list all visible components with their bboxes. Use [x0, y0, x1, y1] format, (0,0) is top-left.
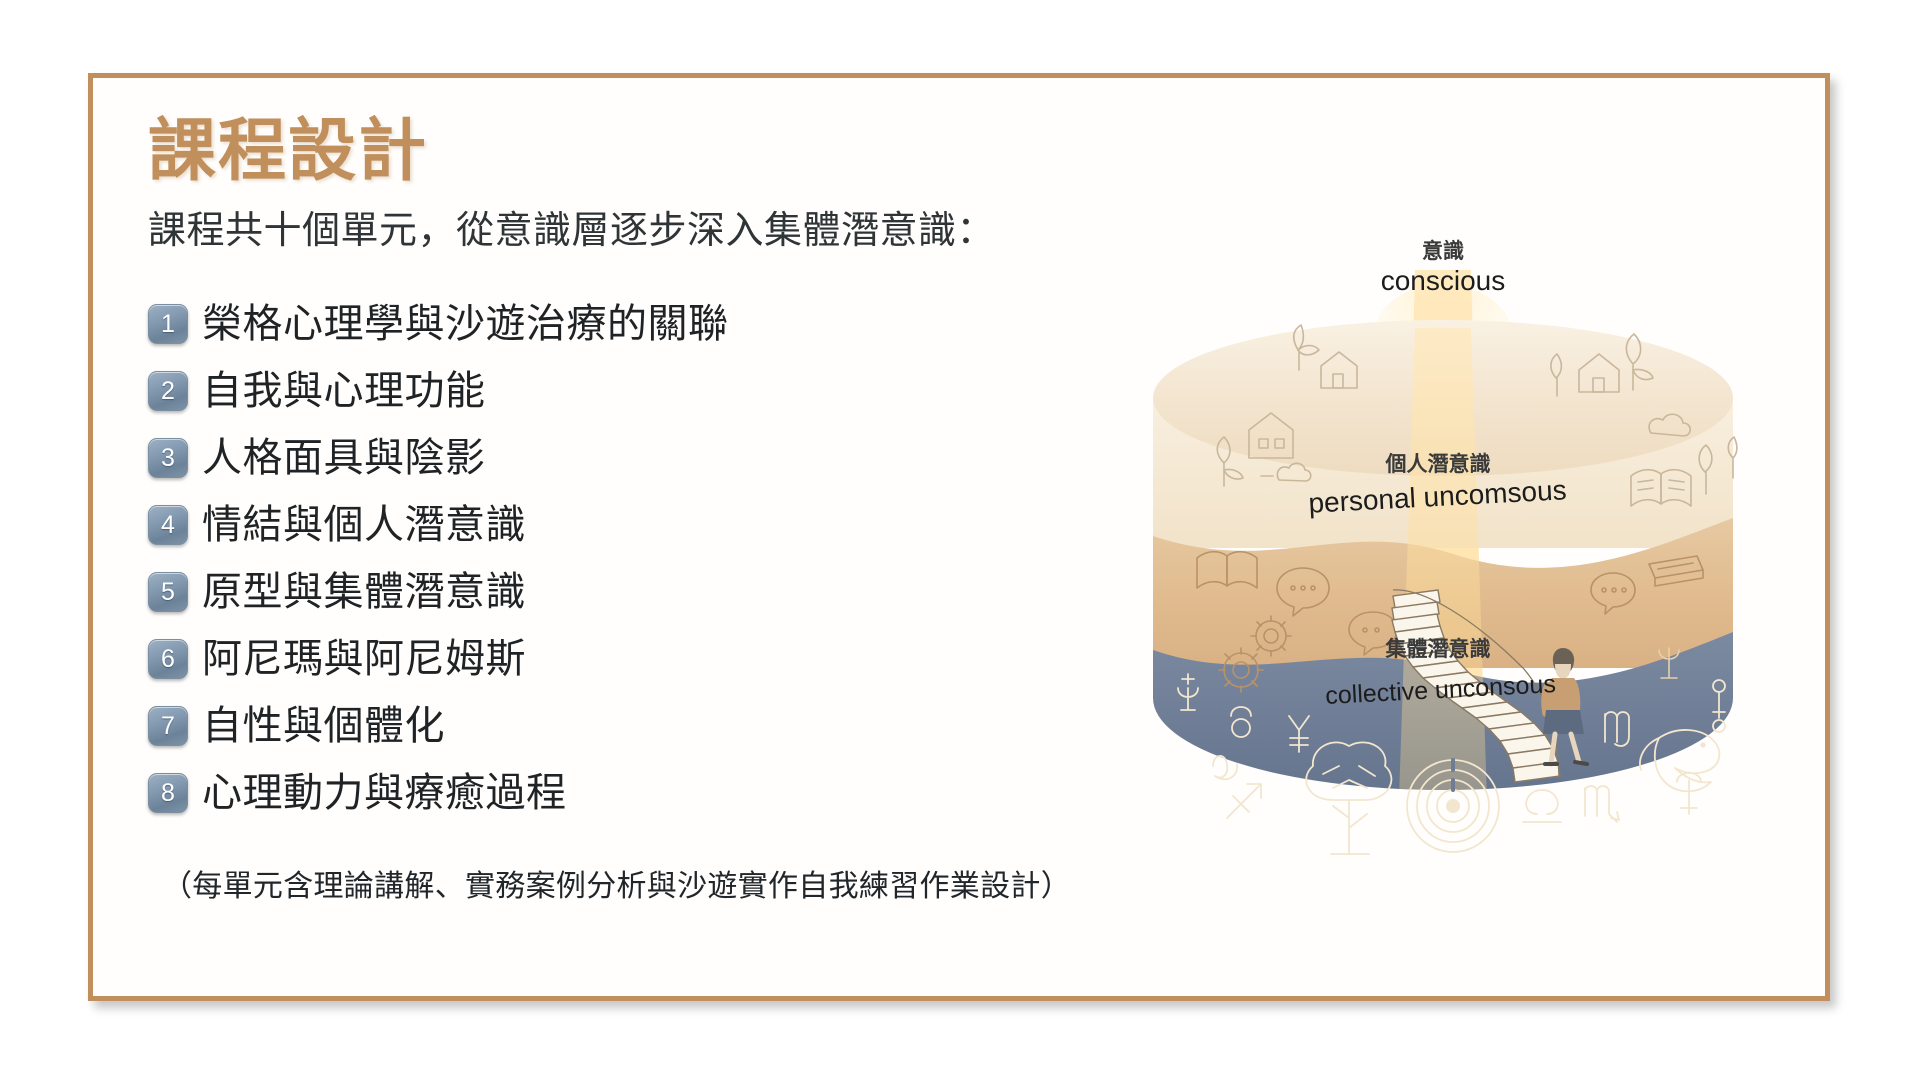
list-item[interactable]: 3 人格面具與陰影	[148, 425, 1148, 492]
subtitle-text: 課程共十個單元，從意識層逐步深入集體潛意識：	[148, 209, 1148, 255]
unit-label: 原型與集體潛意識	[202, 572, 526, 612]
list-item[interactable]: 1 榮格心理學與沙遊治療的關聯	[148, 291, 1148, 358]
zodiac-symbol-icon	[1227, 784, 1261, 818]
unit-label: 自我與心理功能	[202, 371, 486, 411]
unit-number-badge: 6	[148, 639, 188, 679]
unit-label: 阿尼瑪與阿尼姆斯	[202, 639, 526, 679]
zodiac-symbol-icon	[1677, 773, 1701, 814]
unit-label: 榮格心理學與沙遊治療的關聯	[202, 304, 729, 344]
list-item[interactable]: 7 自性與個體化	[148, 693, 1148, 760]
unit-number-badge: 8	[148, 773, 188, 813]
unit-label: 心理動力與療癒過程	[202, 773, 567, 813]
conscious-label-en: conscious	[1381, 265, 1506, 296]
list-item[interactable]: 2 自我與心理功能	[148, 358, 1148, 425]
content-frame: 課程設計 課程共十個單元，從意識層逐步深入集體潛意識： 1 榮格心理學與沙遊治療…	[88, 73, 1830, 1001]
psyche-layers-diagram: 意識 conscious 個人潛意識 personal uncomsous 集體…	[1093, 218, 1793, 898]
unit-number-badge: 3	[148, 438, 188, 478]
unit-number-badge: 5	[148, 572, 188, 612]
unit-number-badge: 2	[148, 371, 188, 411]
collective-unconscious-label-cn: 集體潛意識	[1385, 637, 1491, 661]
unit-label: 自性與個體化	[202, 706, 445, 746]
left-column: 課程設計 課程共十個單元，從意識層逐步深入集體潛意識： 1 榮格心理學與沙遊治療…	[148, 116, 1148, 905]
unit-number-badge: 4	[148, 505, 188, 545]
footnote-text: （每單元含理論講解、實務案例分析與沙遊實作自我練習作業設計）	[162, 861, 1148, 905]
conscious-label-cn: 意識	[1422, 239, 1464, 263]
list-item[interactable]: 5 原型與集體潛意識	[148, 559, 1148, 626]
list-item[interactable]: 8 心理動力與療癒過程	[148, 760, 1148, 827]
page-title: 課程設計	[148, 116, 1148, 187]
list-item[interactable]: 4 情結與個人潛意識	[148, 492, 1148, 559]
unit-list: 1 榮格心理學與沙遊治療的關聯 2 自我與心理功能 3 人格面具與陰影 4 情結…	[148, 291, 1148, 827]
personal-unconscious-label-cn: 個人潛意識	[1385, 452, 1491, 476]
zodiac-symbol-icon	[1585, 786, 1619, 822]
unit-label: 人格面具與陰影	[202, 438, 486, 478]
list-item[interactable]: 6 阿尼瑪與阿尼姆斯	[148, 626, 1148, 693]
unit-label: 情結與個人潛意識	[202, 505, 526, 545]
unit-number-badge: 7	[148, 706, 188, 746]
zodiac-symbol-icon	[1523, 790, 1561, 822]
unit-number-badge: 1	[148, 304, 188, 344]
slide-root: 課程設計 課程共十個單元，從意識層逐步深入集體潛意識： 1 榮格心理學與沙遊治療…	[0, 0, 1920, 1080]
